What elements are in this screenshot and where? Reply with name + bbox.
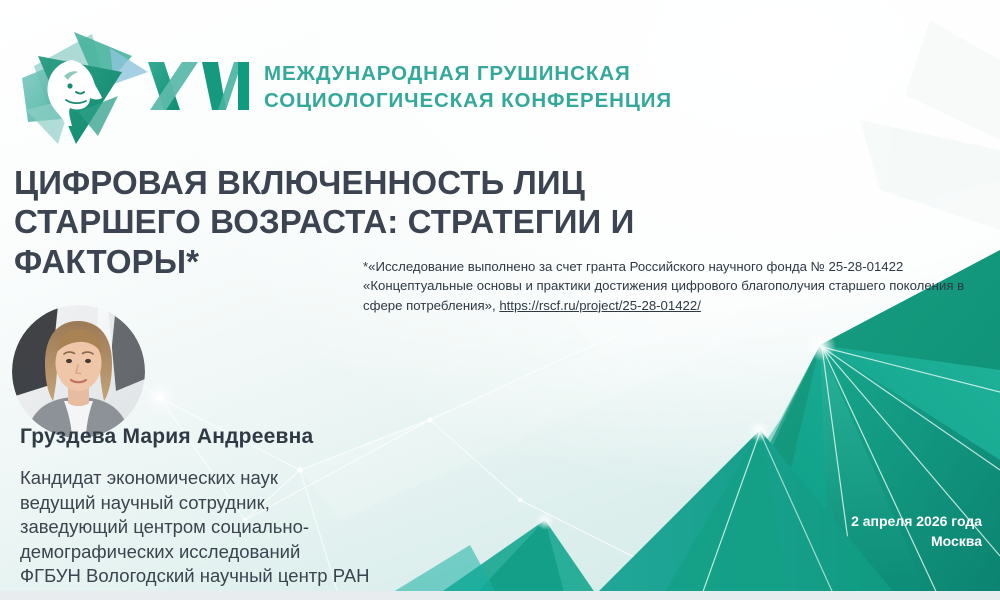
footnote-line-3-text: сфере потребления», xyxy=(363,298,499,313)
footnote-line-3: сфере потребления», https://rscf.ru/proj… xyxy=(363,296,1000,315)
author-title-line: ФГБУН Вологодский научный центр РАН xyxy=(20,564,370,589)
grant-footnote: *«Исследование выполнено за счет гранта … xyxy=(363,257,1000,315)
avatar xyxy=(12,305,145,438)
grushin-portrait-logo-icon xyxy=(14,26,150,148)
grant-project-link[interactable]: https://rscf.ru/project/25-28-01422/ xyxy=(499,298,701,313)
author-titles: Кандидат экономических наук ведущий науч… xyxy=(20,466,370,589)
author-title-line: Кандидат экономических наук xyxy=(20,466,370,491)
bottom-strip xyxy=(0,591,1000,600)
conference-header: XVI МЕЖДУНАРОДНАЯ ГРУШИНСКАЯ СОЦИОЛОГИЧЕ… xyxy=(14,26,672,148)
event-city: Москва xyxy=(851,532,982,552)
title-line-2: СТАРШЕГО ВОЗРАСТА: СТРАТЕГИИ И xyxy=(14,202,714,241)
conference-name: МЕЖДУНАРОДНАЯ ГРУШИНСКАЯ СОЦИОЛОГИЧЕСКАЯ… xyxy=(264,60,672,115)
author-portrait-photo xyxy=(12,305,145,438)
roman-numeral-xvi: XVI xyxy=(146,52,250,122)
author-title-line: демографических исследований xyxy=(20,540,370,565)
conference-name-line-2: СОЦИОЛОГИЧЕСКАЯ КОНФЕРЕНЦИЯ xyxy=(264,87,672,114)
event-meta: 2 апреля 2026 года Москва xyxy=(851,512,982,552)
author-title-line: заведующий центром социально- xyxy=(20,515,370,540)
footnote-line-1: *«Исследование выполнено за счет гранта … xyxy=(363,257,1000,276)
event-date: 2 апреля 2026 года xyxy=(851,512,982,532)
footnote-line-2: «Концептуальные основы и практики достиж… xyxy=(363,276,1000,295)
title-line-1: ЦИФРОВАЯ ВКЛЮЧЕННОСТЬ ЛИЦ xyxy=(14,163,714,202)
presentation-slide: XVI МЕЖДУНАРОДНАЯ ГРУШИНСКАЯ СОЦИОЛОГИЧЕ… xyxy=(0,0,1000,600)
conference-name-line-1: МЕЖДУНАРОДНАЯ ГРУШИНСКАЯ xyxy=(264,60,672,87)
author-name: Груздева Мария Андреевна xyxy=(20,425,313,449)
author-title-line: ведущий научный сотрудник, xyxy=(20,491,370,516)
